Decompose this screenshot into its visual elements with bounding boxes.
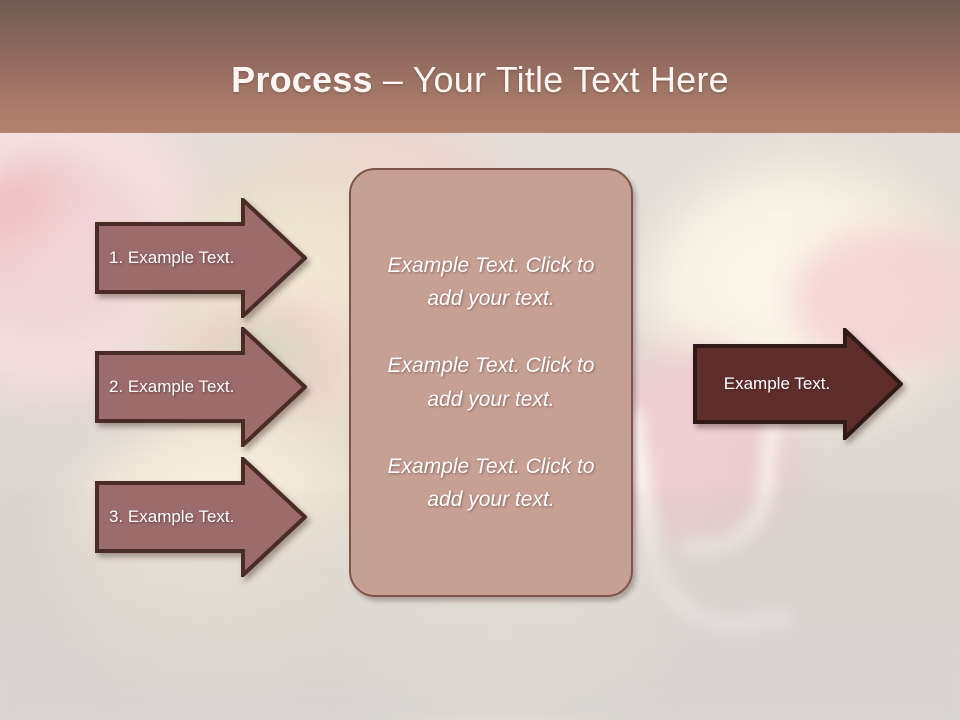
step-arrow-1[interactable]: 1. Example Text. bbox=[95, 198, 307, 318]
page-title-light: – Your Title Text Here bbox=[373, 59, 729, 100]
page-title: Process – Your Title Text Here bbox=[231, 59, 729, 101]
result-arrow-label: Example Text. bbox=[693, 328, 861, 440]
center-panel-paragraph-2: Example Text. Click to add your text. bbox=[381, 349, 601, 415]
step-arrow-1-shape: 1. Example Text. bbox=[95, 198, 307, 318]
step-arrow-2[interactable]: 2. Example Text. bbox=[95, 327, 307, 447]
step-arrow-3-label: 3. Example Text. bbox=[109, 457, 234, 577]
page-title-strong: Process bbox=[231, 59, 373, 100]
center-panel-paragraph-3: Example Text. Click to add your text. bbox=[381, 450, 601, 516]
step-arrow-3-shape: 3. Example Text. bbox=[95, 457, 307, 577]
result-arrow-shape: Example Text. bbox=[693, 328, 903, 440]
step-arrow-2-label: 2. Example Text. bbox=[109, 327, 234, 447]
center-text-panel[interactable]: Example Text. Click to add your text. Ex… bbox=[349, 168, 633, 597]
slide-header: Process – Your Title Text Here bbox=[0, 0, 960, 133]
step-arrow-2-shape: 2. Example Text. bbox=[95, 327, 307, 447]
center-panel-paragraph-1: Example Text. Click to add your text. bbox=[381, 249, 601, 315]
step-arrow-3[interactable]: 3. Example Text. bbox=[95, 457, 307, 577]
result-arrow[interactable]: Example Text. bbox=[693, 328, 903, 440]
step-arrow-1-label: 1. Example Text. bbox=[109, 198, 234, 318]
slide-canvas: Process – Your Title Text Here 1. Exampl… bbox=[0, 0, 960, 720]
